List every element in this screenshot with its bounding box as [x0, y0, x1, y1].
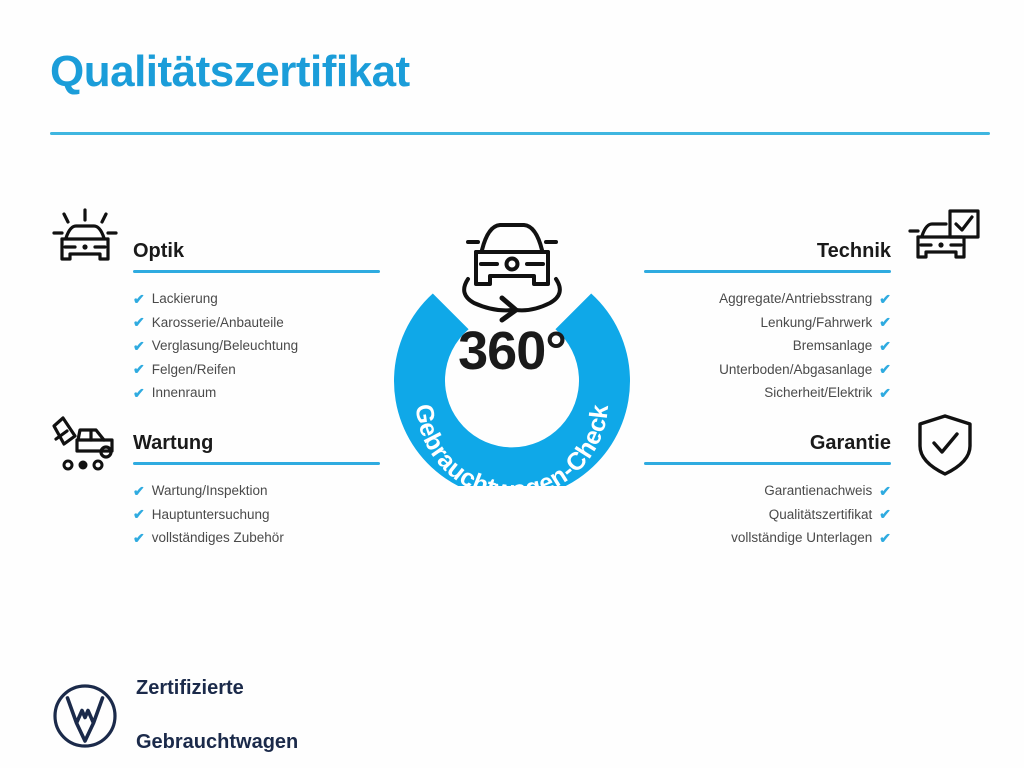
car-checkbox-icon [906, 208, 984, 270]
list-item-label: Wartung/Inspektion [152, 479, 268, 503]
list-item: ✔ Karosserie/Anbauteile [133, 311, 380, 335]
list-item-label: vollständige Unterlagen [731, 526, 872, 550]
title-divider [50, 132, 990, 135]
list-item-label: Qualitätszertifikat [769, 503, 873, 527]
section-garantie-heading: Garantie [644, 432, 891, 454]
car-pencil-service-icon [44, 414, 122, 476]
footer-line-2: Gebrauchtwagen [136, 729, 298, 756]
section-optik-divider [133, 270, 380, 273]
list-item-label: Garantienachweis [764, 479, 872, 503]
list-item: Garantienachweis ✔ [644, 479, 891, 503]
shield-check-icon [914, 412, 976, 478]
list-item: Qualitätszertifikat ✔ [644, 503, 891, 527]
list-item-label: Lenkung/Fahrwerk [760, 311, 872, 335]
list-item: vollständige Unterlagen ✔ [644, 526, 891, 550]
check-icon: ✔ [879, 292, 891, 306]
certificate-page: Qualitätszertifikat Optik ✔ [0, 0, 1024, 768]
list-item: Aggregate/Antriebsstrang ✔ [644, 287, 891, 311]
check-icon: ✔ [133, 386, 145, 400]
badge-360-gebrauchtwagen-check: Gebrauchtwagen-Check [372, 196, 652, 486]
check-icon: ✔ [133, 339, 145, 353]
list-item-label: Felgen/Reifen [152, 358, 236, 382]
car-shine-icon [46, 206, 124, 268]
list-item: ✔ Lackierung [133, 287, 380, 311]
list-item-label: Karosserie/Anbauteile [152, 311, 284, 335]
section-garantie-list: Garantienachweis ✔ Qualitätszertifikat ✔… [644, 479, 891, 550]
section-technik-list: Aggregate/Antriebsstrang ✔ Lenkung/Fahrw… [644, 287, 891, 405]
page-title: Qualitätszertifikat [50, 50, 410, 94]
check-icon: ✔ [133, 362, 145, 376]
check-icon: ✔ [133, 507, 145, 521]
check-icon: ✔ [879, 386, 891, 400]
section-optik: Optik ✔ Lackierung ✔ Karosserie/Anbautei… [133, 240, 380, 405]
badge-center-value: 360° [372, 324, 652, 378]
check-icon: ✔ [133, 484, 145, 498]
section-wartung-divider [133, 462, 380, 465]
section-technik-divider [644, 270, 891, 273]
list-item: Sicherheit/Elektrik ✔ [644, 381, 891, 405]
section-optik-heading: Optik [133, 240, 380, 262]
list-item-label: Hauptuntersuchung [152, 503, 270, 527]
list-item-label: vollständiges Zubehör [152, 526, 284, 550]
list-item: Lenkung/Fahrwerk ✔ [644, 311, 891, 335]
check-icon: ✔ [879, 507, 891, 521]
footer-brand: Zertifizierte Gebrauchtwagen [52, 648, 298, 783]
footer-line-1: Zertifizierte [136, 675, 298, 702]
section-wartung-list: ✔ Wartung/Inspektion ✔ Hauptuntersuchung… [133, 479, 380, 550]
check-icon: ✔ [133, 292, 145, 306]
list-item-label: Unterboden/Abgasanlage [719, 358, 872, 382]
list-item: ✔ Hauptuntersuchung [133, 503, 380, 527]
check-icon: ✔ [879, 339, 891, 353]
section-optik-list: ✔ Lackierung ✔ Karosserie/Anbauteile ✔ V… [133, 287, 380, 405]
check-icon: ✔ [879, 531, 891, 545]
section-wartung-heading: Wartung [133, 432, 380, 454]
section-technik: Technik Aggregate/Antriebsstrang ✔ Lenku… [644, 240, 891, 405]
car-front-rotation-icon [464, 225, 560, 320]
check-icon: ✔ [879, 484, 891, 498]
section-garantie: Garantie Garantienachweis ✔ Qualitätszer… [644, 432, 891, 550]
check-icon: ✔ [879, 315, 891, 329]
list-item-label: Innenraum [152, 381, 217, 405]
list-item-label: Bremsanlage [793, 334, 873, 358]
list-item: ✔ Felgen/Reifen [133, 358, 380, 382]
section-garantie-divider [644, 462, 891, 465]
list-item-label: Sicherheit/Elektrik [764, 381, 872, 405]
check-icon: ✔ [133, 531, 145, 545]
list-item: ✔ Verglasung/Beleuchtung [133, 334, 380, 358]
list-item: ✔ Wartung/Inspektion [133, 479, 380, 503]
list-item-label: Verglasung/Beleuchtung [152, 334, 298, 358]
list-item-label: Lackierung [152, 287, 218, 311]
check-icon: ✔ [879, 362, 891, 376]
list-item: Bremsanlage ✔ [644, 334, 891, 358]
check-icon: ✔ [133, 315, 145, 329]
list-item-label: Aggregate/Antriebsstrang [719, 287, 872, 311]
footer-label: Zertifizierte Gebrauchtwagen [136, 648, 298, 783]
section-wartung: Wartung ✔ Wartung/Inspektion ✔ Hauptunte… [133, 432, 380, 550]
vw-logo [52, 683, 118, 749]
list-item: Unterboden/Abgasanlage ✔ [644, 358, 891, 382]
list-item: ✔ vollständiges Zubehör [133, 526, 380, 550]
list-item: ✔ Innenraum [133, 381, 380, 405]
section-technik-heading: Technik [644, 240, 891, 262]
